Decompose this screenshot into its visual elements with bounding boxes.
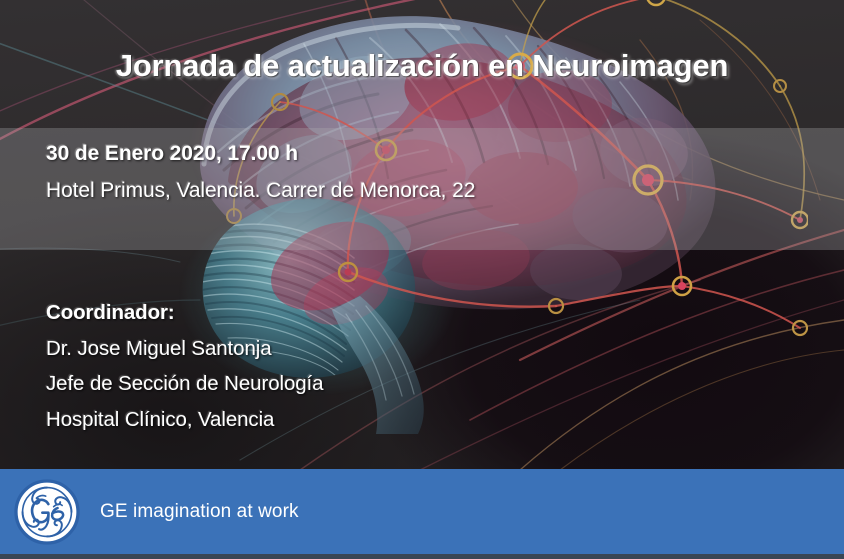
page-title: Jornada de actualización en Neuroimagen xyxy=(0,48,844,84)
coordinator-block: Coordinador: Dr. Jose Miguel Santonja Je… xyxy=(46,303,606,430)
coordinator-role: Jefe de Sección de Neurología xyxy=(46,374,606,395)
event-details: 30 de Enero 2020, 17.00 h Hotel Primus, … xyxy=(46,142,746,203)
footer-bottom-edge xyxy=(0,554,844,559)
ge-monogram-icon xyxy=(14,479,80,545)
coordinator-name: Dr. Jose Miguel Santonja xyxy=(46,339,606,360)
ge-footer-bar: GE imagination at work xyxy=(0,469,844,555)
event-date: 30 de Enero 2020, 17.00 h xyxy=(46,142,746,166)
coordinator-affiliation: Hospital Clínico, Valencia xyxy=(46,410,606,431)
poster-canvas: Jornada de actualización en Neuroimagen … xyxy=(0,0,844,559)
event-venue: Hotel Primus, Valencia. Carrer de Menorc… xyxy=(46,179,746,203)
ge-tagline: GE imagination at work xyxy=(100,501,299,523)
coordinator-heading: Coordinador: xyxy=(46,303,606,324)
